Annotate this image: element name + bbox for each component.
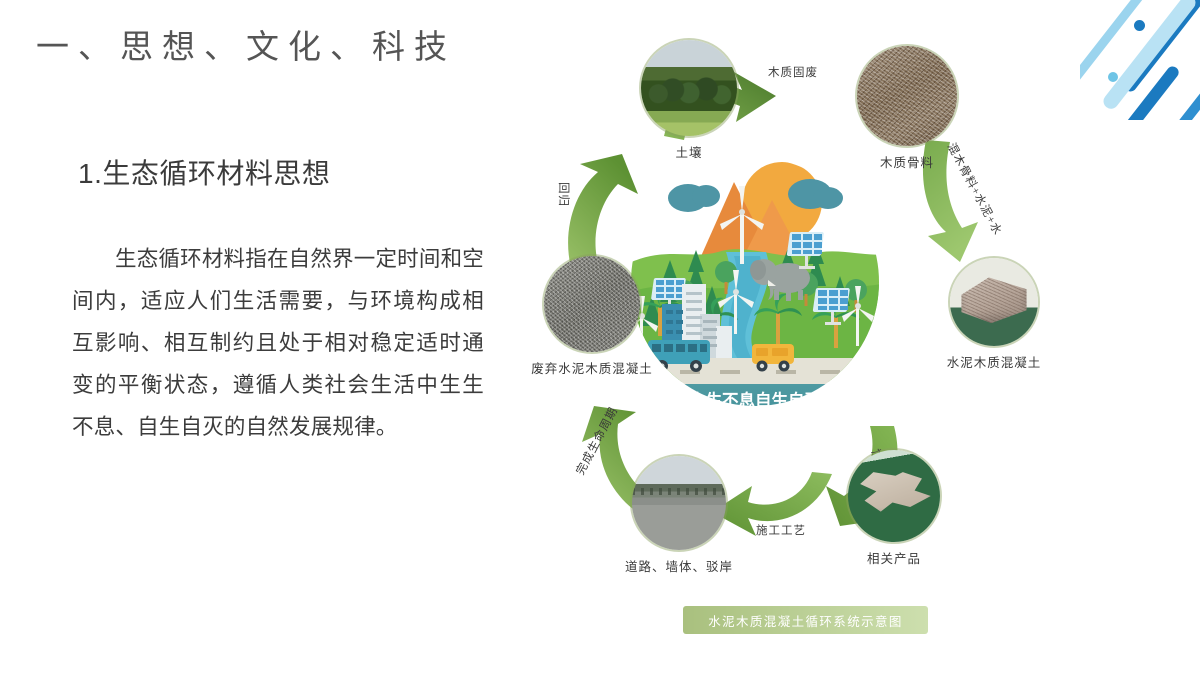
node-related-products[interactable]: 相关产品	[848, 450, 940, 542]
node-wood-aggregate-label: 木质骨料	[880, 152, 934, 171]
node-soil[interactable]: 土壤	[641, 40, 737, 136]
arrow-construction-label: 施工工艺	[756, 522, 806, 538]
concrete-block-photo	[950, 258, 1038, 346]
deco-dot	[1134, 20, 1145, 31]
deco-stripe	[1173, 81, 1200, 120]
arrow-wood-waste-label: 木质固废	[768, 64, 818, 80]
body-paragraph: 生态循环材料指在自然界一定时间和空间内，适应人们生活需要，与环境构成相互影响、相…	[72, 238, 484, 448]
node-related-products-label: 相关产品	[867, 548, 921, 567]
node-road-wall-revetment-label: 道路、墙体、驳岸	[625, 556, 733, 575]
diagram-caption: 水泥木质混凝土循环系统示意图	[683, 606, 928, 634]
node-cement-wood-concrete-label: 水泥木质混凝土	[947, 352, 1042, 371]
crushed-gravel-photo	[544, 256, 640, 352]
deco-dot	[1108, 72, 1118, 82]
page-title: 一、思想、文化、科技	[36, 20, 456, 68]
arrow-return-label: 回归	[556, 182, 572, 207]
center-line-1: 生生不息自生自灭	[689, 390, 822, 410]
node-waste-concrete[interactable]: 废弃水泥木质混凝土	[544, 256, 640, 352]
forest-photo	[641, 40, 737, 136]
node-wood-aggregate[interactable]: 木质骨料	[857, 46, 957, 146]
node-waste-concrete-label: 废弃水泥木质混凝土	[531, 358, 653, 377]
section-heading: 1.生态循环材料思想	[78, 152, 330, 192]
center-line-2: 水泥木质混凝土	[697, 410, 813, 428]
node-soil-label: 土壤	[675, 142, 702, 161]
node-cement-wood-concrete[interactable]: 水泥木质混凝土	[950, 258, 1038, 346]
diagram-caption-text: 水泥木质混凝土循环系统示意图	[708, 611, 903, 630]
eco-city-illustration: 生生不息自生自灭 水泥木质混凝土	[630, 156, 880, 428]
paver-block-photo	[848, 450, 940, 542]
cycle-diagram: 木质固废 混木骨料+水泥+水 加工	[520, 18, 990, 638]
pavement-photo	[632, 456, 726, 550]
wood-chips-photo	[857, 46, 957, 146]
corner-decoration	[1080, 0, 1200, 120]
node-road-wall-revetment[interactable]: 道路、墙体、驳岸	[632, 456, 726, 550]
